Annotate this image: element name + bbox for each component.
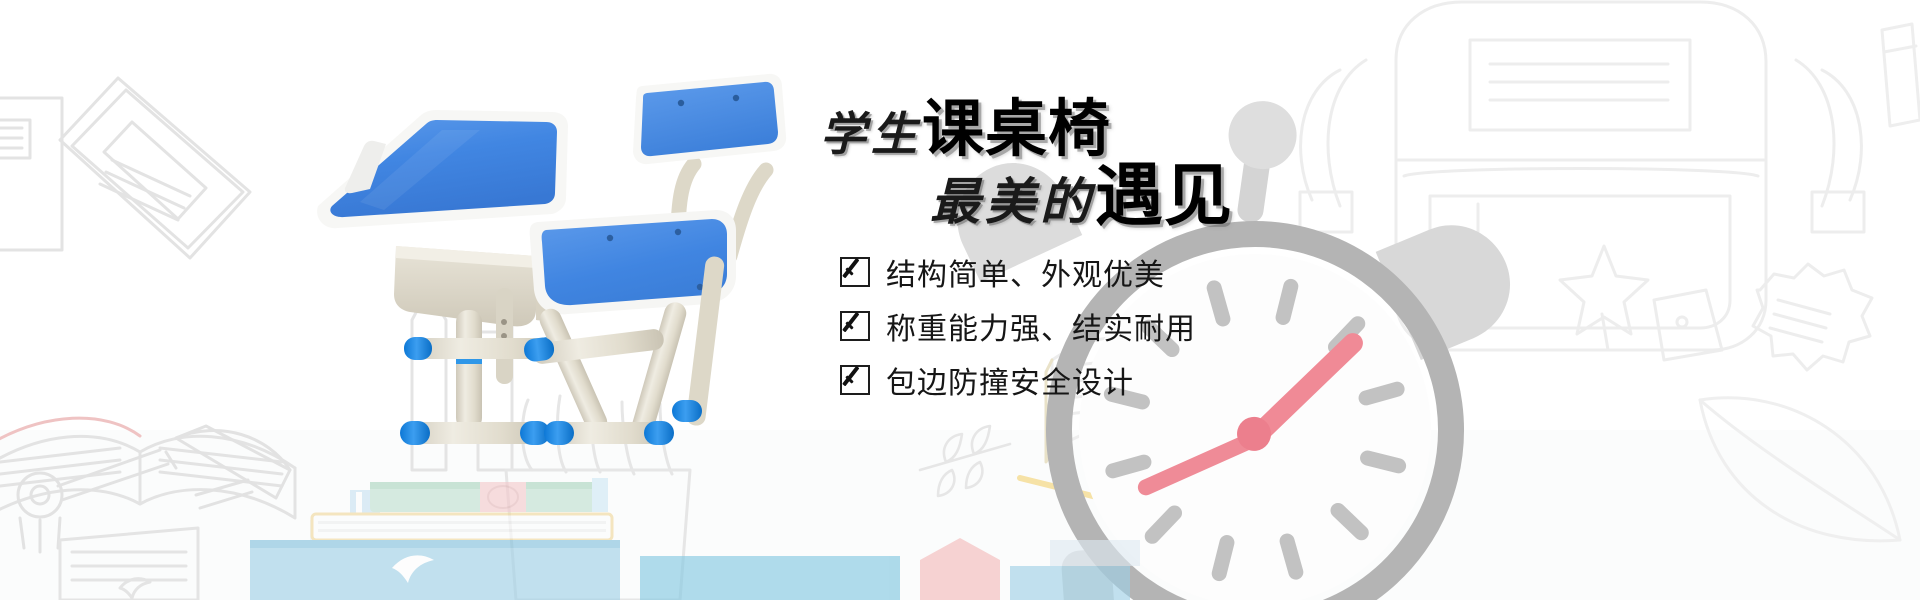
product-photo-desk-chair bbox=[300, 60, 840, 460]
list-item: 称重能力强、结实耐用 bbox=[840, 304, 1196, 348]
headline-line-2: 最美的遇见 bbox=[930, 163, 1233, 231]
chair-foot-cap-left bbox=[544, 421, 574, 445]
chair-foot-cap-right bbox=[644, 421, 674, 445]
headline-line-1: 学生课桌椅 bbox=[820, 98, 1111, 160]
feature-list: 结构简单、外观优美 称重能力强、结实耐用 包边防撞安全设计 bbox=[840, 250, 1196, 412]
checkbox-checked-icon bbox=[840, 365, 870, 395]
checkbox-checked-icon bbox=[840, 257, 870, 287]
checkbox-checked-icon bbox=[840, 311, 870, 341]
chair-back-surface bbox=[641, 82, 778, 156]
desk-cap-left bbox=[404, 337, 432, 360]
promo-banner: 学生课桌椅 最美的遇见 结构简单、外观优美 称重能力强、结实耐用 包边防撞安全设… bbox=[0, 0, 1920, 600]
headline-line2-light: 最美的 bbox=[930, 174, 1095, 230]
desk bbox=[317, 110, 568, 445]
feature-text: 包边防撞安全设计 bbox=[886, 358, 1134, 402]
chair-leg-a bbox=[536, 305, 611, 436]
copy-block: 学生课桌椅 最美的遇见 结构简单、外观优美 称重能力强、结实耐用 包边防撞安全设… bbox=[820, 88, 1460, 398]
feature-text: 结构简单、外观优美 bbox=[886, 250, 1165, 294]
feature-text: 称重能力强、结实耐用 bbox=[886, 304, 1196, 348]
headline-line1-bold: 课桌椅 bbox=[922, 92, 1111, 165]
headline-line2-bold: 遇见 bbox=[1095, 157, 1233, 236]
desk-leg-front bbox=[456, 310, 482, 430]
desk-foot-cap-left bbox=[400, 421, 430, 445]
chair-foot-cap-rear bbox=[672, 400, 702, 422]
chair-seat-surface bbox=[542, 219, 727, 305]
list-item: 包边防撞安全设计 bbox=[840, 358, 1196, 402]
list-item: 结构简单、外观优美 bbox=[840, 250, 1196, 294]
headline-line1-light: 学生 bbox=[820, 109, 922, 160]
